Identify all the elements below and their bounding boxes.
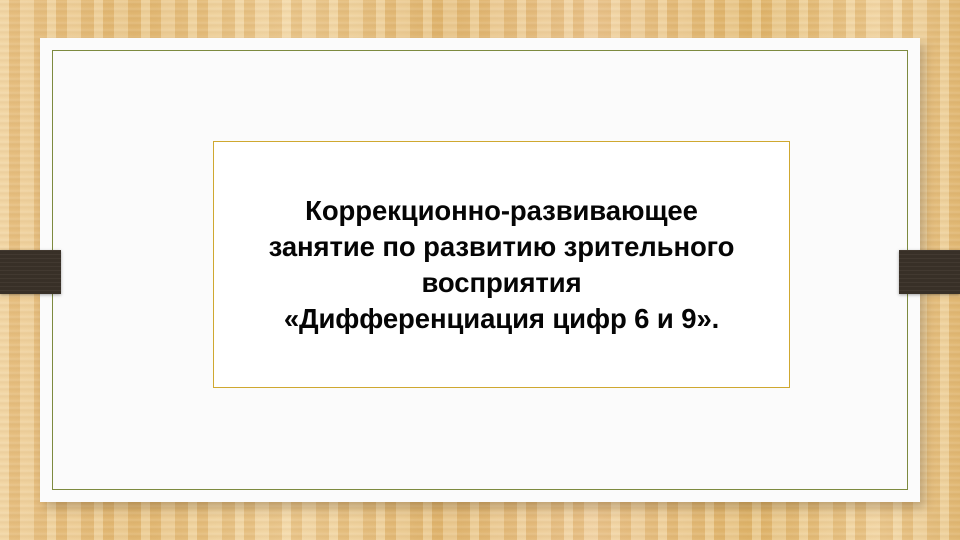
presentation-slide: Коррекционно-развивающее занятие по разв… (0, 0, 960, 540)
decorative-bar-right (899, 250, 960, 294)
decorative-bar-left (0, 250, 61, 294)
title-textbox[interactable]: Коррекционно-развивающее занятие по разв… (213, 141, 790, 388)
slide-title: Коррекционно-развивающее занятие по разв… (214, 193, 789, 337)
